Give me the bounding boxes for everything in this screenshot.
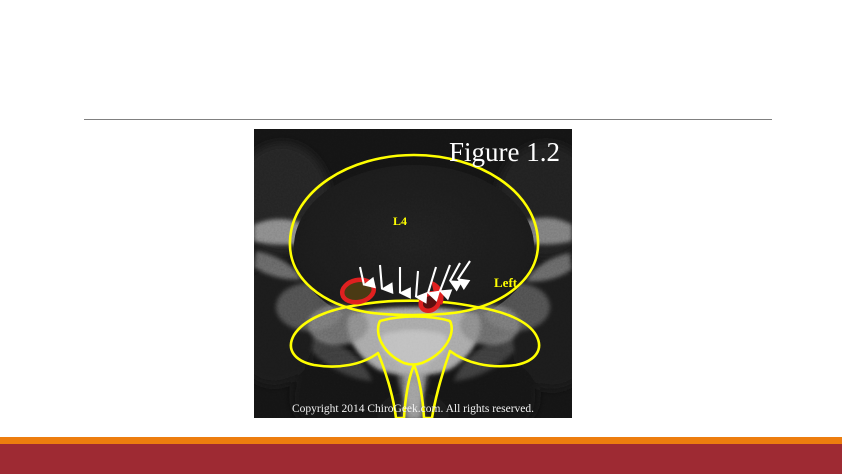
label-left: Left <box>494 275 518 290</box>
footer-accent-band-orange <box>0 437 842 444</box>
mri-figure-svg: Figure 1.2 L4 Left Copyright 2014 ChiroG… <box>254 129 572 418</box>
slide-canvas: Figure 1.2 L4 Left Copyright 2014 ChiroG… <box>0 0 842 474</box>
footer-accent-band-red <box>0 444 842 474</box>
mri-figure: Figure 1.2 L4 Left Copyright 2014 ChiroG… <box>254 129 572 418</box>
copyright-notice: Copyright 2014 ChiroGeek.com. All rights… <box>292 403 534 415</box>
header-divider-rule <box>84 119 772 120</box>
label-l4: L4 <box>393 214 407 228</box>
figure-caption: Figure 1.2 <box>449 137 560 167</box>
